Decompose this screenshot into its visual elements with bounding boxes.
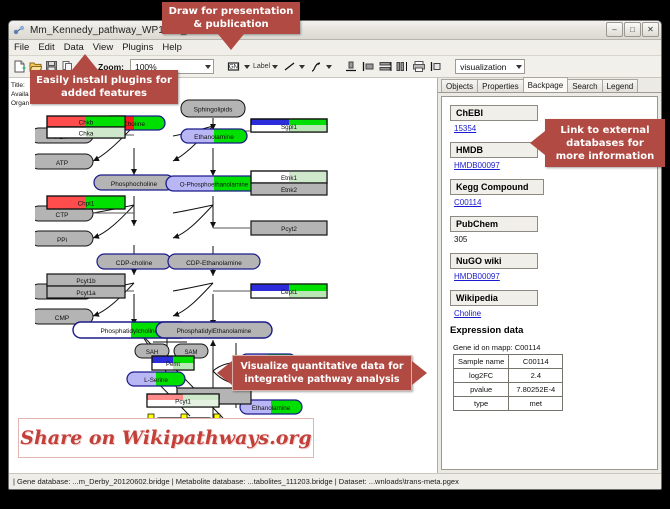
tab-legend[interactable]: Legend xyxy=(602,79,639,92)
svg-text:O-Phosphoethanolamine: O-Phosphoethanolamine xyxy=(180,182,249,189)
wikipedia-link[interactable]: Choline xyxy=(454,309,649,318)
callout-links-line1: Link to external xyxy=(560,124,649,137)
node-cdp-choline: CDP-choline xyxy=(97,254,171,269)
row-key: log2FC xyxy=(454,369,509,383)
svg-text:Phosphocholine: Phosphocholine xyxy=(111,181,158,188)
svg-text:CDP-Ethanolamine: CDP-Ethanolamine xyxy=(186,260,242,267)
pathway-canvas[interactable]: Sphingolipids Choline Ethanolamine xyxy=(35,78,437,473)
callout-plugins-line2: added features xyxy=(61,87,147,100)
gene-chpt1: Chpt1 xyxy=(47,196,125,209)
menu-plugins[interactable]: Plugins xyxy=(122,42,153,53)
svg-text:Cept1: Cept1 xyxy=(281,289,298,296)
title-bar: Mm_Kennedy_pathway_WP1771_45176.gpml – □… xyxy=(9,21,661,40)
line-button[interactable] xyxy=(281,59,305,75)
minimize-button[interactable]: – xyxy=(606,22,623,37)
wikipedia-header: Wikipedia xyxy=(450,290,538,306)
gene-pcyt2: Pcyt2 xyxy=(251,221,327,235)
node-phosphatidylethanolamine: PhosphatidylEthanolamine xyxy=(156,322,272,338)
interaction-button[interactable] xyxy=(308,59,332,75)
nugo-wiki-link[interactable]: HMDB00097 xyxy=(454,272,649,281)
gene-pcyt1b: Pcyt1b xyxy=(47,274,125,286)
menu-bar: File Edit Data View Plugins Help xyxy=(9,40,661,56)
visualization-combo[interactable]: visualization xyxy=(455,59,525,74)
svg-text:Ethanolamine: Ethanolamine xyxy=(252,405,291,412)
table-row: log2FC 2.4 xyxy=(454,369,563,383)
menu-data[interactable]: Data xyxy=(64,42,84,53)
kegg-compound-header: Kegg Compound xyxy=(450,179,544,195)
svg-text:Ethanolamine: Ethanolamine xyxy=(194,134,234,141)
callout-draw: Draw for presentation & publication xyxy=(162,2,300,34)
status-bar-text: | Gene database: ...m_Derby_20120602.bri… xyxy=(13,477,459,486)
callout-visualize: Visualize quantitative data for integrat… xyxy=(232,355,412,391)
pathvisio-icon xyxy=(13,24,25,36)
line-icon[interactable] xyxy=(281,59,297,75)
node-ppi: PPi xyxy=(35,231,93,246)
tab-search[interactable]: Search xyxy=(567,79,602,92)
new-file-icon[interactable] xyxy=(13,59,26,75)
align-bottom-icon[interactable] xyxy=(344,59,358,75)
datanode-button[interactable]: GN xyxy=(226,59,250,75)
gene-etnk2: Etnk2 xyxy=(251,183,327,195)
node-o-phosphoethanolamine: O-Phosphoethanolamine xyxy=(166,176,262,191)
pathway-editor-pane[interactable]: Title: Availa Organ xyxy=(9,78,438,473)
node-phosphocholine: Phosphocholine xyxy=(94,175,174,190)
callout-links-line2: databases for xyxy=(566,137,644,150)
svg-text:Phosphatidylcholines: Phosphatidylcholines xyxy=(100,328,162,335)
row-key: pvalue xyxy=(454,383,509,397)
row-value: met xyxy=(509,397,563,411)
callout-visualize-line2: integrative pathway analysis xyxy=(244,373,399,386)
callout-visualize-arrow-right-icon xyxy=(412,361,427,385)
pathway-metadata-column: Title: Availa Organ xyxy=(9,78,35,473)
callout-share: Share on Wikipathways.org xyxy=(18,418,314,458)
pubchem-value: 305 xyxy=(454,235,649,244)
expression-data-title: Expression data xyxy=(450,325,649,336)
row-key: Sample name xyxy=(454,355,509,369)
svg-text:CMP: CMP xyxy=(55,315,69,322)
gene-sgpl1: Sgpl1 xyxy=(251,119,327,132)
callout-plugins-line1: Easily install plugins for xyxy=(36,74,172,87)
label-button[interactable]: Label xyxy=(253,63,278,70)
pubchem-header: PubChem xyxy=(450,216,538,232)
svg-text:Pcyt1b: Pcyt1b xyxy=(76,278,96,285)
svg-text:GN: GN xyxy=(229,65,238,71)
label-button-text: Label xyxy=(253,63,270,70)
visualization-value: visualization xyxy=(460,62,506,72)
table-row: pvalue 7.80252E-4 xyxy=(454,383,563,397)
gene-id-on-mapp: Gene id on mapp: C00114 xyxy=(453,343,649,352)
tab-backpage[interactable]: Backpage xyxy=(523,77,569,92)
table-row: type met xyxy=(454,397,563,411)
svg-text:SAM: SAM xyxy=(184,350,197,356)
status-bar: | Gene database: ...m_Derby_20120602.bri… xyxy=(9,473,661,489)
svg-text:ATP: ATP xyxy=(56,160,68,167)
svg-text:Pcyt1a: Pcyt1a xyxy=(76,290,96,297)
window-controls: – □ ✕ xyxy=(606,22,659,37)
node-atp: ATP xyxy=(35,154,93,169)
menu-view[interactable]: View xyxy=(93,42,113,53)
align-left-icon[interactable] xyxy=(361,59,375,75)
menu-file[interactable]: File xyxy=(14,42,29,53)
expression-data-table: Sample name C00114 log2FC 2.4 pvalue 7.8… xyxy=(453,354,563,411)
node-ethanolamine-top: Ethanolamine xyxy=(181,129,247,143)
svg-text:Chka: Chka xyxy=(79,131,94,138)
svg-text:Etnk1: Etnk1 xyxy=(281,175,298,182)
callout-visualize-line1: Visualize quantitative data for xyxy=(240,360,403,373)
svg-text:Sphingolipids: Sphingolipids xyxy=(194,107,233,114)
callout-draw-arrow-icon xyxy=(218,34,244,50)
callout-visualize-arrow-left-icon xyxy=(217,361,232,385)
gene-etnk1: Etnk1 xyxy=(251,171,327,183)
callout-links: Link to external databases for more info… xyxy=(545,119,665,167)
row-value: 7.80252E-4 xyxy=(509,383,563,397)
tab-objects[interactable]: Objects xyxy=(441,79,478,92)
row-value: C00114 xyxy=(509,355,563,369)
side-panel-tabs: Objects Properties Backpage Search Legen… xyxy=(438,78,661,93)
stack-vertical-icon[interactable] xyxy=(378,59,392,75)
svg-text:Etnk2: Etnk2 xyxy=(281,187,298,194)
print-icon[interactable] xyxy=(412,59,426,75)
gene-pcyt1a: Pcyt1a xyxy=(47,286,125,298)
kegg-compound-link[interactable]: C00114 xyxy=(454,198,649,207)
callout-share-text: Share on Wikipathways.org xyxy=(20,427,311,449)
callout-plugins: Easily install plugins for added feature… xyxy=(30,70,178,104)
chevron-down-icon xyxy=(516,65,522,69)
gene-cept1: Cept1 xyxy=(251,284,327,298)
chevron-down-icon[interactable] xyxy=(244,65,250,69)
callout-plugins-arrow-icon xyxy=(72,54,98,70)
gene-pcyt1-bottom: Pcyt1 xyxy=(147,394,219,407)
svg-text:PhosphatidylEthanolamine: PhosphatidylEthanolamine xyxy=(177,328,252,335)
svg-text:SAH: SAH xyxy=(146,350,158,356)
gene-pemt: Pemt xyxy=(152,356,194,370)
interaction-icon[interactable] xyxy=(308,59,324,75)
callout-draw-line2: & publication xyxy=(193,18,268,31)
svg-text:Chpt1: Chpt1 xyxy=(78,201,95,208)
svg-text:Pcyt1: Pcyt1 xyxy=(175,399,191,406)
node-l-serine-left: L-Serine xyxy=(127,372,185,386)
datanode-icon[interactable]: GN xyxy=(226,59,242,75)
order-icon[interactable] xyxy=(429,59,443,75)
nugo-wiki-header: NuGO wiki xyxy=(450,253,538,269)
table-row: Sample name C00114 xyxy=(454,355,563,369)
row-value: 2.4 xyxy=(509,369,563,383)
svg-text:CTP: CTP xyxy=(56,212,69,219)
hmdb-header: HMDB xyxy=(450,142,538,158)
gene-chkb: Chkb xyxy=(47,116,125,127)
node-sphingolipids: Sphingolipids xyxy=(181,100,245,117)
tab-properties[interactable]: Properties xyxy=(477,79,523,92)
node-cdp-ethanolamine: CDP-Ethanolamine xyxy=(168,254,260,269)
maximize-button[interactable]: □ xyxy=(624,22,641,37)
menu-edit[interactable]: Edit xyxy=(38,42,54,53)
gene-chka: Chka xyxy=(47,127,125,138)
callout-links-arrow-icon xyxy=(530,131,545,155)
svg-text:Sgpl1: Sgpl1 xyxy=(281,124,298,131)
svg-text:Chkb: Chkb xyxy=(79,120,94,127)
row-key: type xyxy=(454,397,509,411)
close-button[interactable]: ✕ xyxy=(642,22,659,37)
svg-text:Choline: Choline xyxy=(123,121,145,128)
svg-text:Pcyt2: Pcyt2 xyxy=(281,226,297,233)
chevron-down-icon xyxy=(205,65,211,69)
chevron-down-icon[interactable] xyxy=(299,65,305,69)
chevron-down-icon[interactable] xyxy=(326,65,332,69)
chevron-down-icon[interactable] xyxy=(272,65,278,69)
menu-help[interactable]: Help xyxy=(162,42,182,53)
chebi-header: ChEBI xyxy=(450,105,538,121)
callout-draw-line1: Draw for presentation xyxy=(169,5,294,18)
svg-text:Pemt: Pemt xyxy=(166,362,180,368)
common-width-icon[interactable] xyxy=(395,59,409,75)
svg-text:PPi: PPi xyxy=(57,237,67,244)
svg-text:CDP-choline: CDP-choline xyxy=(116,260,153,267)
callout-links-line3: more information xyxy=(556,150,655,163)
svg-text:L-Serine: L-Serine xyxy=(144,377,168,384)
